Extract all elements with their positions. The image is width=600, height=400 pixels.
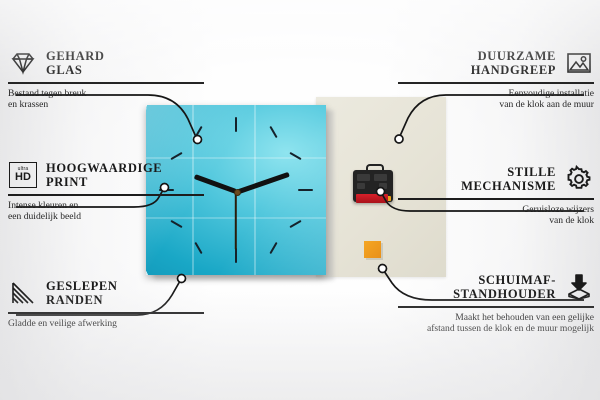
ultra-hd-big-label: HD	[15, 172, 31, 183]
feature-desc-line1: Intense kleuren en	[8, 200, 204, 212]
feature-desc-line2: afstand tussen de klok en de muur mogeli…	[398, 323, 594, 335]
clock-movement	[353, 164, 393, 204]
feature-desc-line2: een duidelijk beeld	[8, 211, 204, 223]
feature-title: SCHUIMAF- STANDHOUDER	[453, 273, 556, 302]
feature-header: GEHARD GLAS	[8, 48, 204, 78]
feature-desc-line1: Geruisloze wijzers	[398, 204, 594, 216]
movement-slot-a	[357, 174, 370, 181]
feature-header: SCHUIMAF- STANDHOUDER	[398, 272, 594, 302]
movement-slot-b	[374, 174, 387, 181]
feature-divider	[398, 198, 594, 200]
clock-second-hand	[235, 191, 237, 249]
feature-gehard-glas: GEHARD GLAS Bestand tegen breuk en krass…	[8, 48, 204, 111]
feature-header: STILLE MECHANISME	[398, 164, 594, 194]
feature-divider	[398, 306, 594, 308]
feature-desc-line2: van de klok aan de muur	[398, 99, 594, 111]
hour-tick-3	[298, 189, 313, 191]
feature-duurzame-handgreep: DUURZAME HANDGREEP Eenvoudige installati…	[398, 48, 594, 111]
feature-divider	[398, 82, 594, 84]
feature-schuimafstandhouder: SCHUIMAF- STANDHOUDER Maakt het behouden…	[398, 272, 594, 335]
feature-title: STILLE MECHANISME	[461, 165, 556, 194]
ultra-hd-icon: ultra HD	[8, 160, 38, 190]
feature-title: DUURZAME HANDGREEP	[471, 49, 556, 78]
hour-tick-6	[235, 248, 237, 263]
feature-header: GESLEPEN RANDEN	[8, 278, 204, 308]
feature-title: GESLEPEN RANDEN	[46, 279, 118, 308]
feature-hoogwaardige-print: ultra HD HOOGWAARDIGE PRINT Intense kleu…	[8, 160, 204, 223]
hour-tick-12	[235, 117, 237, 132]
feature-stille-mechanisme: STILLE MECHANISME Geruisloze wijzers van…	[398, 164, 594, 227]
gear-icon	[564, 164, 594, 194]
feature-title: HOOGWAARDIGE PRINT	[46, 161, 162, 190]
feature-divider	[8, 194, 204, 196]
clock-center-pivot	[234, 189, 241, 196]
feature-desc-line2: van de klok	[398, 215, 594, 227]
press-down-spacer-icon	[564, 272, 594, 302]
aa-battery	[356, 194, 388, 203]
feature-geslepen-randen: GESLEPEN RANDEN Gladde en veilige afwerk…	[8, 278, 204, 329]
feature-header: ultra HD HOOGWAARDIGE PRINT	[8, 160, 204, 190]
feature-desc-line2: en krassen	[8, 99, 204, 111]
movement-body	[353, 170, 393, 202]
diamond-icon	[8, 48, 38, 78]
feature-desc-line1: Gladde en veilige afwerking	[8, 318, 204, 330]
feature-desc-line1: Maakt het behouden van een gelijke	[398, 312, 594, 324]
feature-divider	[8, 312, 204, 314]
feature-divider	[8, 82, 204, 84]
foam-spacer-pad	[364, 241, 381, 258]
infographic-canvas: GEHARD GLAS Bestand tegen breuk en krass…	[0, 0, 600, 400]
feature-title: GEHARD GLAS	[46, 49, 104, 78]
bevelled-edge-icon	[8, 278, 38, 308]
picture-frame-icon	[564, 48, 594, 78]
feature-desc-line1: Bestand tegen breuk	[8, 88, 204, 100]
movement-slot-c	[357, 183, 365, 189]
movement-slot-d	[379, 183, 387, 189]
feature-header: DUURZAME HANDGREEP	[398, 48, 594, 78]
feature-desc-line1: Eenvoudige installatie	[398, 88, 594, 100]
